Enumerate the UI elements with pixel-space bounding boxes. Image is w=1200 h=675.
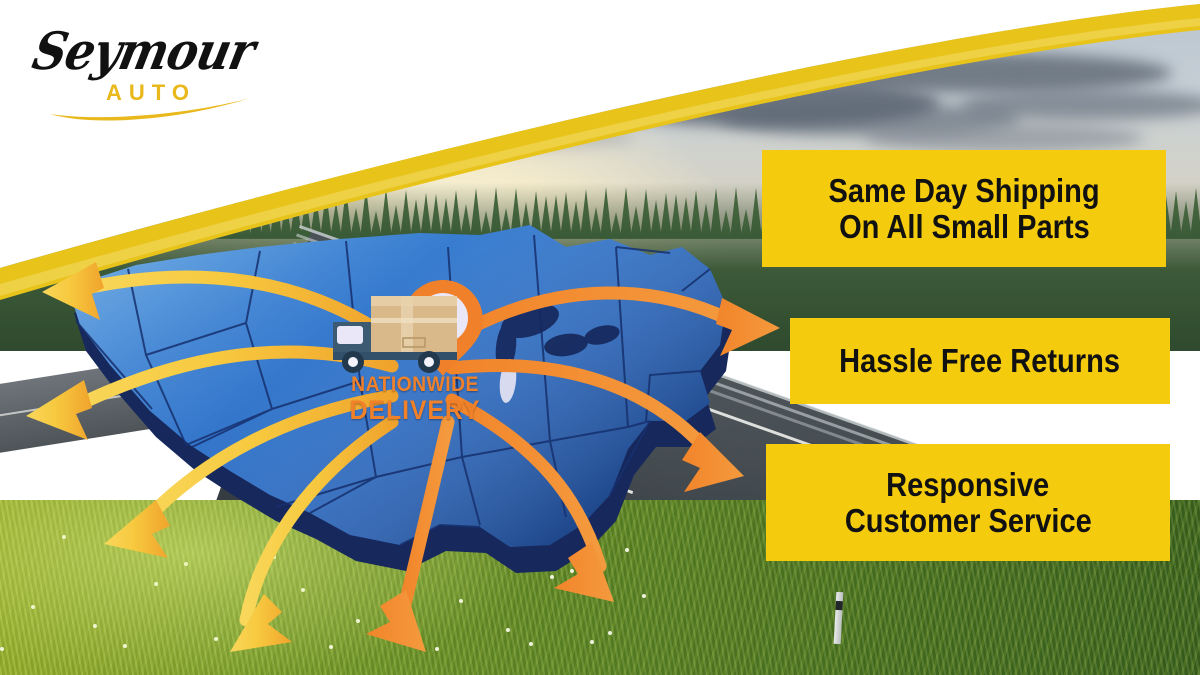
promotional-banner: NATIONWIDE DELIVERY Seymour AUTO Same Da…	[0, 0, 1200, 675]
callout-panel-service[interactable]: Responsive Customer Service	[766, 444, 1170, 561]
brand-subtitle: AUTO	[106, 80, 196, 106]
brand-name: Seymour	[28, 21, 260, 81]
delivery-truck-icon	[325, 278, 505, 378]
cloud	[336, 124, 636, 150]
cloud	[864, 124, 1144, 152]
badge-line-2: DELIVERY	[332, 396, 498, 424]
callout-3-line-1: Responsive	[886, 467, 1049, 503]
callout-3-line-2: Customer Service	[845, 503, 1092, 539]
brand-logo[interactable]: Seymour AUTO	[28, 22, 253, 122]
callout-1-line-2: On All Small Parts	[839, 209, 1090, 245]
cardboard-box-icon	[371, 296, 457, 354]
cloud	[408, 93, 658, 123]
callout-panel-shipping[interactable]: Same Day Shipping On All Small Parts	[762, 150, 1166, 267]
nationwide-delivery-badge: NATIONWIDE DELIVERY	[325, 278, 505, 448]
callout-1-line-1: Same Day Shipping	[828, 173, 1099, 209]
badge-line-1: NATIONWIDE	[332, 374, 498, 396]
callout-2-line-1: Hassle Free Returns	[840, 343, 1121, 379]
callout-panel-returns[interactable]: Hassle Free Returns	[790, 318, 1170, 404]
